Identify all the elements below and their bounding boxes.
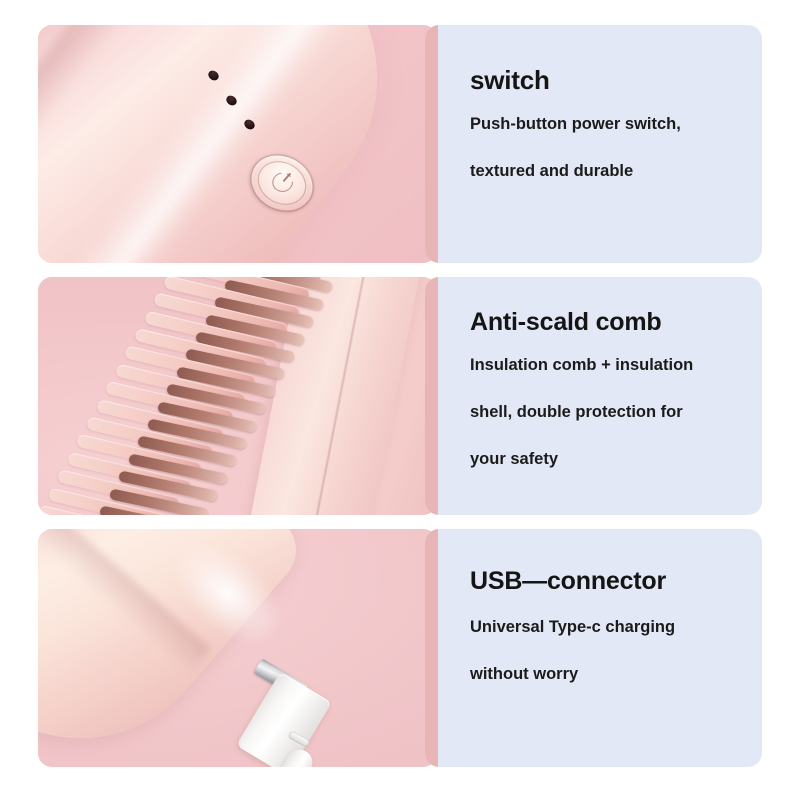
feature-heading: switch: [470, 67, 550, 93]
photo-vignette: [38, 529, 437, 767]
feature-row-usb-connector: USB—connector Universal Type-c charging …: [0, 529, 800, 767]
power-switch-photo: [38, 25, 437, 263]
feature-row-switch: switch Push-button power switch, texture…: [0, 25, 800, 263]
usb-connector-photo: [38, 529, 437, 767]
feature-description-line: without worry: [470, 666, 578, 683]
feature-description-line: Universal Type-c charging: [470, 619, 675, 636]
feature-description-line: Push-button power switch,: [470, 116, 681, 133]
feature-card-switch: switch Push-button power switch, texture…: [425, 25, 762, 263]
feature-description-line: shell, double protection for: [470, 404, 683, 421]
card-accent-bar: [425, 25, 438, 263]
photo-vignette: [38, 277, 437, 515]
product-feature-infographic: switch Push-button power switch, texture…: [0, 0, 800, 800]
feature-description-line: textured and durable: [470, 163, 633, 180]
anti-scald-comb-photo: [38, 277, 437, 515]
feature-heading: USB—connector: [470, 569, 666, 594]
photo-vignette: [38, 25, 437, 263]
card-accent-bar: [425, 529, 438, 767]
feature-description-line: your safety: [470, 451, 558, 468]
feature-heading: Anti-scald comb: [470, 310, 661, 335]
card-accent-bar: [425, 277, 438, 515]
feature-description-line: Insulation comb + insulation: [470, 357, 693, 374]
feature-row-anti-scald-comb: Anti-scald comb Insulation comb + insula…: [0, 277, 800, 515]
feature-card-usb-connector: USB—connector Universal Type-c charging …: [425, 529, 762, 767]
feature-card-anti-scald-comb: Anti-scald comb Insulation comb + insula…: [425, 277, 762, 515]
